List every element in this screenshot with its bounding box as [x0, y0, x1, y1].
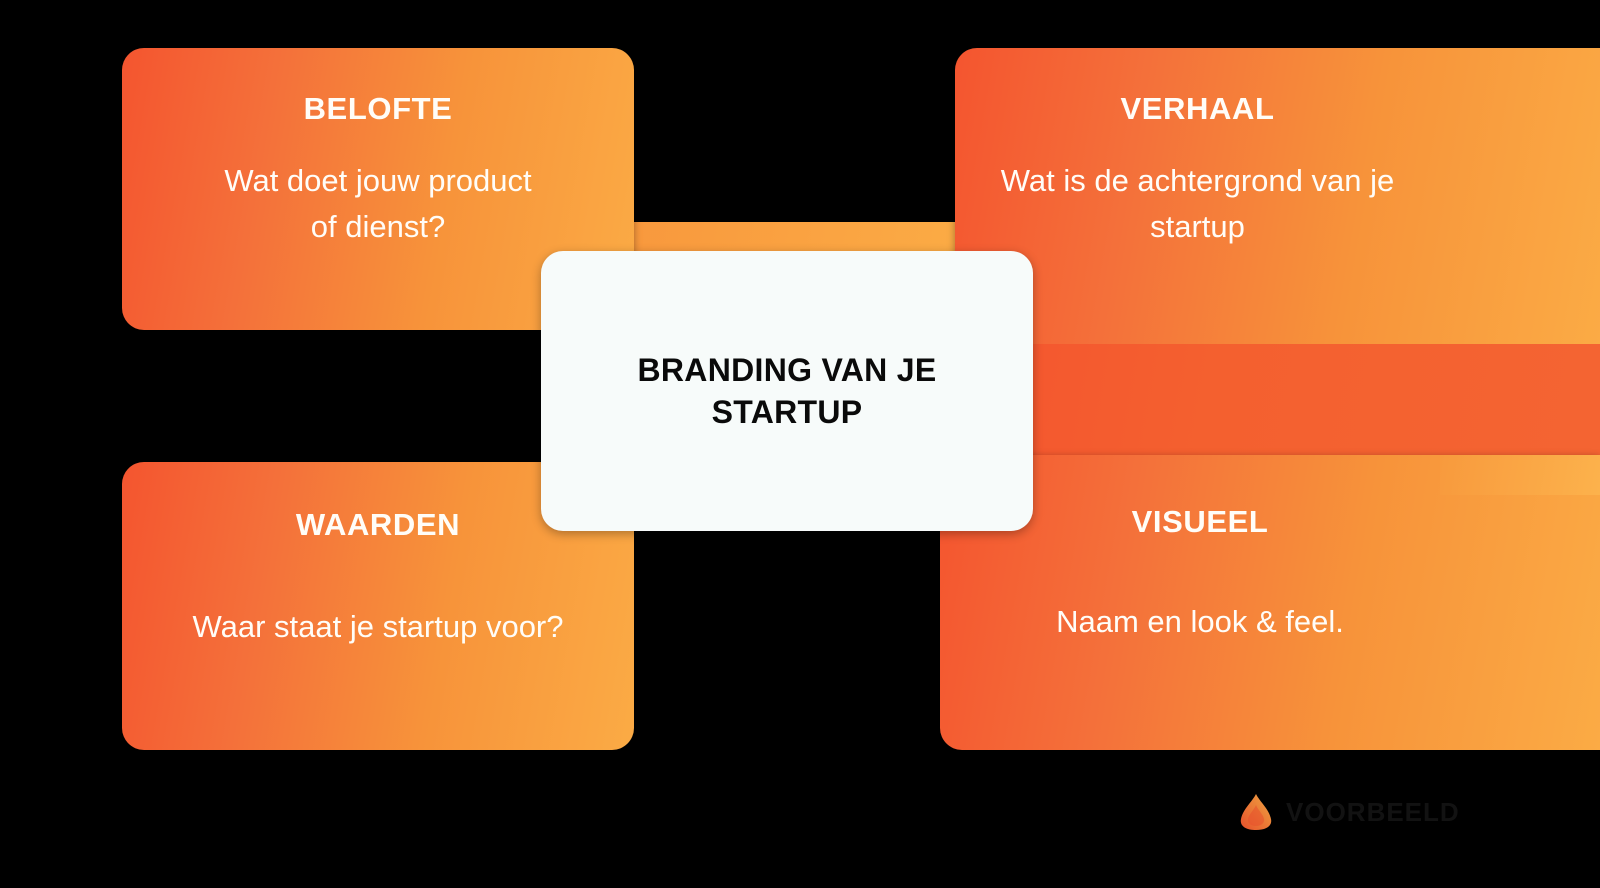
center-concept-box[interactable]: BRANDING VAN JE STARTUP [541, 251, 1033, 531]
card-verhaal-body: Wat is de achtergrond van je startup [968, 158, 1428, 250]
card-visueel-body: Naam en look & feel. [1056, 599, 1344, 645]
center-concept-title: BRANDING VAN JE STARTUP [587, 349, 987, 433]
card-waarden-title: WAARDEN [296, 508, 460, 542]
watermark: VOORBEELD [1238, 790, 1460, 834]
card-visueel[interactable]: VISUEEL Naam en look & feel. [940, 455, 1600, 750]
card-belofte-body: Wat doet jouw product of dienst? [213, 158, 543, 250]
flame-logo-icon [1238, 793, 1274, 831]
right-edge-sliver [1440, 455, 1600, 495]
diagram-canvas: BELOFTE Wat doet jouw product of dienst?… [0, 0, 1600, 888]
card-belofte-title: BELOFTE [304, 92, 453, 126]
card-verhaal-title: VERHAAL [1120, 92, 1274, 126]
card-waarden-body: Waar staat je startup voor? [192, 604, 563, 650]
card-visueel-title: VISUEEL [1132, 505, 1269, 539]
card-verhaal[interactable]: VERHAAL Wat is de achtergrond van je sta… [955, 48, 1600, 348]
mid-right-connector-strip [955, 344, 1600, 459]
watermark-text: VOORBEELD [1286, 797, 1460, 828]
